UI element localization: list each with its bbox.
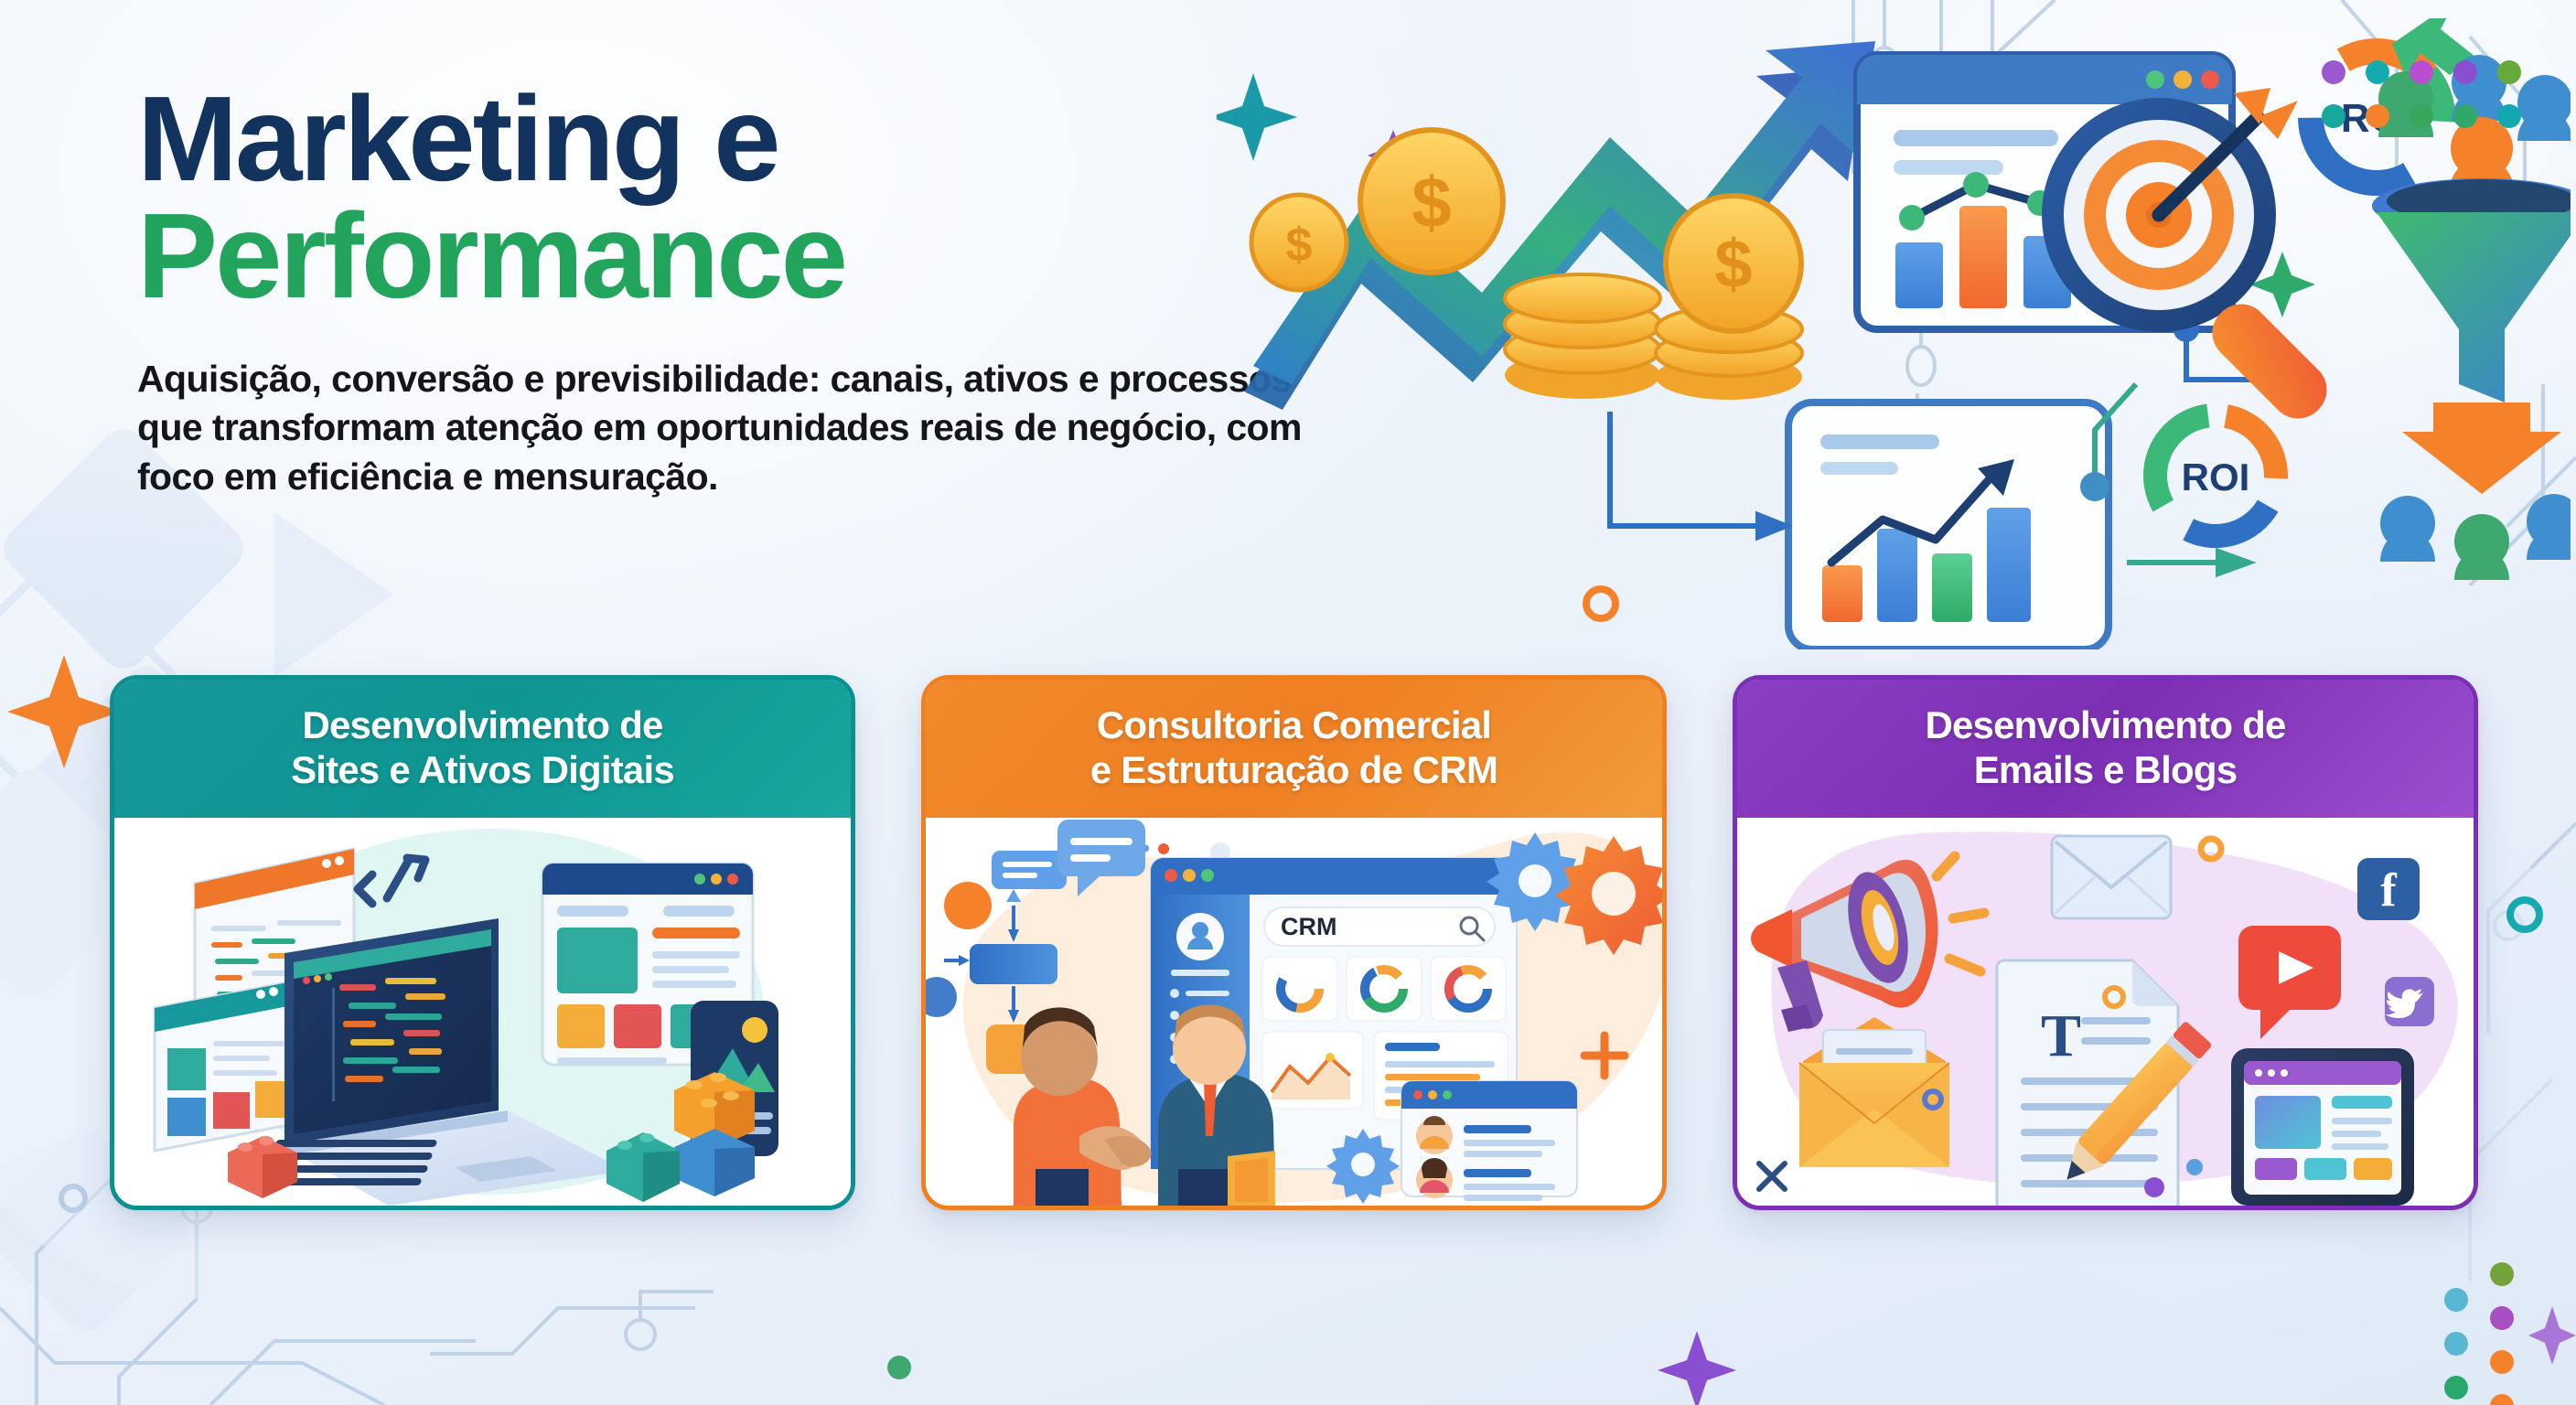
conversion-funnel-icon: [2372, 55, 2571, 580]
svg-text:$: $: [1411, 162, 1451, 242]
dot-column-bottom-right: [2490, 1262, 2514, 1405]
service-cards-row: Desenvolvimento de Sites e Ativos Digita…: [110, 675, 2479, 1210]
analytics-panel-icon: [1788, 402, 2109, 649]
title-line-2: Performance: [137, 198, 1336, 315]
card-sites-illustration: [114, 818, 851, 1206]
card-emails[interactable]: Desenvolvimento de Emails e Blogs: [1733, 675, 2478, 1210]
card-sites-body: [114, 818, 851, 1206]
svg-text:$: $: [1714, 226, 1752, 302]
card-emails-header: Desenvolvimento de Emails e Blogs: [1737, 680, 2474, 818]
content-window-teal-icon: [155, 982, 288, 1151]
dot-column-bottom-right-2: [2444, 1288, 2468, 1400]
svg-text:$: $: [1286, 219, 1313, 272]
card-crm-title-line1: Consultoria Comercial: [948, 703, 1640, 748]
hero-paragraph: Aquisição, conversão e previsibilidade: …: [137, 355, 1317, 501]
contacts-card-icon: [1401, 1081, 1577, 1201]
crm-search-bar[interactable]: CRM: [1264, 907, 1495, 946]
tablet-icon: [2231, 1048, 2414, 1206]
title-line-1: Marketing e: [137, 71, 778, 206]
twitter-icon: [2385, 977, 2434, 1026]
roi-donut-bottom: ROI: [2133, 393, 2298, 558]
kpi-donuts-icon: [1262, 957, 1506, 1021]
poster-canvas: Marketing e Performance Aquisição, conve…: [0, 0, 2576, 1405]
crm-search-value: CRM: [1281, 913, 1337, 940]
roi-label-bottom: ROI: [2182, 456, 2250, 499]
card-sites[interactable]: Desenvolvimento de Sites e Ativos Digita…: [110, 675, 855, 1210]
envelope-closed-icon: [2052, 836, 2171, 918]
hero-text-block: Marketing e Performance Aquisição, conve…: [137, 80, 1336, 501]
document-letter: T: [2041, 1003, 2081, 1069]
card-emails-body: T: [1737, 818, 2474, 1206]
facebook-icon: f: [2357, 858, 2420, 920]
dot-grid-top-right: [2322, 60, 2521, 128]
card-sites-title-line1: Desenvolvimento de: [136, 703, 829, 748]
sparkle-star-icon: [1217, 73, 1297, 161]
card-crm-body: CRM: [926, 818, 1662, 1206]
card-crm-header: Consultoria Comercial e Estruturação de …: [926, 680, 1662, 818]
svg-text:f: f: [2380, 864, 2397, 917]
card-crm-illustration: CRM: [926, 818, 1662, 1206]
page-title: Marketing e Performance: [137, 80, 1336, 315]
card-sites-title-line2: Sites e Ativos Digitais: [136, 748, 829, 793]
ring-dot-orange-icon: [1586, 589, 1615, 618]
card-crm[interactable]: Consultoria Comercial e Estruturação de …: [921, 675, 1667, 1210]
card-sites-header: Desenvolvimento de Sites e Ativos Digita…: [114, 680, 851, 818]
card-crm-title-line2: e Estruturação de CRM: [948, 748, 1640, 793]
card-emails-title-line1: Desenvolvimento de: [1759, 703, 2452, 748]
card-emails-title-line2: Emails e Blogs: [1759, 748, 2452, 793]
card-emails-illustration: T: [1737, 818, 2474, 1206]
